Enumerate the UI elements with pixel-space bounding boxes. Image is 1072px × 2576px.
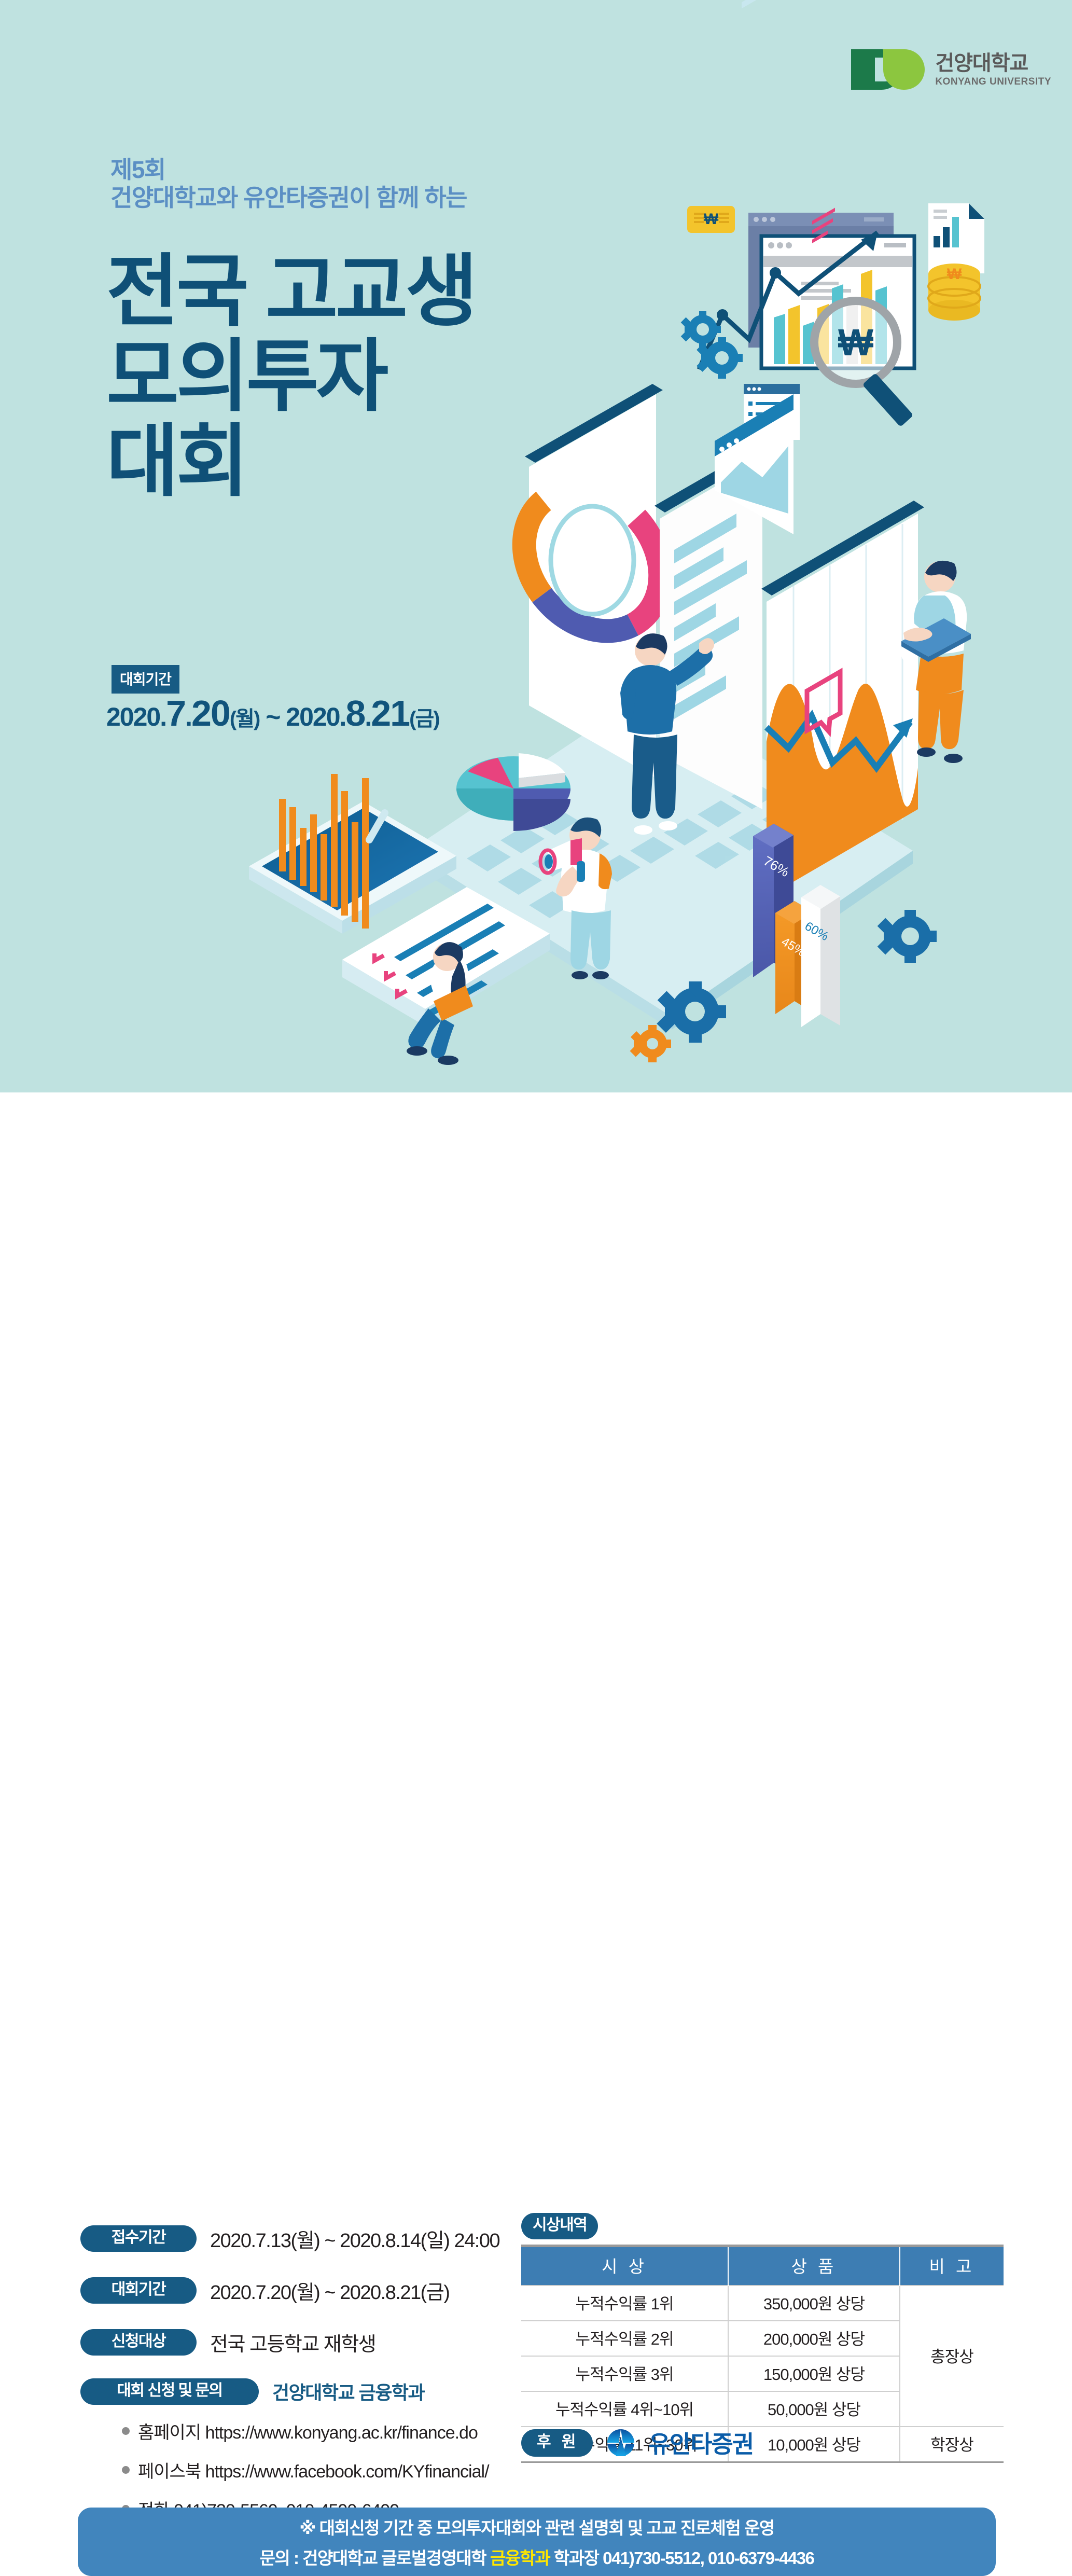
bar-label-60: 60% — [802, 919, 831, 944]
magnifier-won-icon: ₩ — [814, 301, 913, 427]
cell-amount: 50,000원 상당 — [728, 2391, 900, 2427]
eyebrow-text: 제5회 건양대학교와 유안타증권이 함께 하는 — [110, 156, 467, 212]
col-header-note: 비 고 — [900, 2246, 1004, 2286]
gear-icon — [681, 311, 721, 348]
label-contact: 대회 신청 및 문의 — [80, 2378, 259, 2405]
checklist-doc — [342, 887, 550, 1026]
date-year-2: 2020. — [286, 702, 345, 731]
footer-line-2: 문의 : 건양대학교 글로벌경영대학 금융학과 학과장 041)730-5512… — [260, 2544, 814, 2569]
cell-prize: 누적수익률 2위 — [521, 2321, 728, 2356]
yuanta-logo-icon — [606, 2428, 635, 2457]
gear-icon — [657, 981, 726, 1043]
value-eligibility: 전국 고등학교 재학생 — [210, 2328, 375, 2357]
list-item[interactable]: 홈페이지 https://www.konyang.ac.kr/finance.d… — [122, 2418, 489, 2444]
footer-line2-post: 학과장 041)730-5512, 010-6379-4436 — [550, 2549, 814, 2568]
cell-prize: 누적수익률 3위 — [521, 2356, 728, 2391]
person-megaphone — [540, 818, 612, 979]
cell-note-dean: 학장상 — [900, 2427, 1004, 2462]
svg-text:₩: ₩ — [947, 266, 962, 283]
footer-line2-highlight: 금융학과 — [490, 2549, 550, 2568]
konyang-mark-icon — [851, 49, 924, 90]
date-tilde: ~ — [259, 702, 286, 731]
info-panel: 접수기간 2020.7.13(월) ~ 2020.8.14(일) 24:00 대… — [0, 1092, 1072, 1516]
cell-amount: 10,000원 상당 — [728, 2427, 900, 2462]
info-row-application-period: 접수기간 2020.7.13(월) ~ 2020.8.14(일) 24:00 — [80, 2224, 499, 2253]
awards-badge: 시상내역 — [521, 2213, 598, 2239]
info-row-eligibility: 신청대상 전국 고등학교 재학생 — [80, 2328, 375, 2357]
event-date-range: 2020.7.20(월) ~ 2020.8.21(금) — [106, 693, 439, 734]
link-homepage[interactable]: 홈페이지 https://www.konyang.ac.kr/finance.d… — [138, 2418, 478, 2444]
konyang-name-kr: 건양대학교 — [935, 53, 1051, 74]
coin-stack-icon: ₩ — [928, 264, 980, 321]
svg-text:₩: ₩ — [838, 322, 873, 364]
hero-panel: ₩ — [0, 0, 1072, 1092]
info-row-contact: 대회 신청 및 문의 건양대학교 금융학과 — [80, 2378, 424, 2405]
date-weekday-1: (월) — [230, 708, 259, 730]
list-window-icon — [744, 384, 800, 440]
bullet-dot-icon — [122, 2427, 130, 2435]
footer-line2-pre: 문의 : 건양대학교 글로벌경영대학 — [260, 2549, 490, 2568]
date-month-2: 8 — [345, 693, 365, 733]
cell-amount: 350,000원 상당 — [728, 2286, 900, 2321]
won-ticket-icon: ₩ — [687, 206, 735, 233]
bar-label-76: 76% — [761, 853, 792, 880]
pie-3d-chart — [456, 753, 570, 831]
footer-banner: ※ 대회신청 기간 중 모의투자대회와 관련 설명회 및 고교 진로체험 운영 … — [78, 2508, 996, 2576]
date-month-1: 7 — [166, 693, 185, 733]
bar-3d-chart: 76% 45% 60% — [753, 824, 840, 1027]
label-eligibility: 신청대상 — [80, 2329, 197, 2356]
col-header-prize: 시 상 — [521, 2246, 728, 2286]
footer-line-1: ※ 대회신청 기간 중 모의투자대회와 관련 설명회 및 고교 진로체험 운영 — [299, 2514, 774, 2539]
konyang-logo: 건양대학교 KONYANG UNIVERSITY — [851, 49, 1051, 90]
col-header-amount: 상 품 — [728, 2246, 900, 2286]
cell-prize: 누적수익률 1위 — [521, 2286, 728, 2321]
konyang-name-en: KONYANG UNIVERSITY — [935, 77, 1051, 87]
sponsor-block: 후 원 유안타증권 — [521, 2426, 753, 2460]
link-facebook[interactable]: 페이스북 https://www.facebook.com/KYfinancia… — [138, 2457, 489, 2483]
gear-icon — [878, 910, 937, 963]
person-reading — [407, 942, 473, 1065]
sponsor-name: 유안타증권 — [649, 2426, 754, 2460]
report-doc-icon — [928, 203, 984, 273]
gear-icon — [697, 337, 743, 379]
sponsor-label: 후 원 — [521, 2429, 593, 2457]
table-row: 누적수익률 1위 350,000원 상당 총장상 — [521, 2286, 1004, 2321]
person-laptop — [901, 561, 971, 763]
label-contest-period: 대회기간 — [80, 2277, 197, 2304]
person-presenter — [620, 633, 714, 835]
svg-text:₩: ₩ — [704, 211, 719, 228]
value-contest-period: 2020.7.20(월) ~ 2020.8.21(금) — [210, 2276, 449, 2305]
tablet-chart — [249, 774, 456, 934]
date-dot-2: . — [365, 702, 371, 731]
date-weekday-2: (금) — [409, 708, 439, 730]
gear-icon — [630, 1025, 671, 1062]
table-header-row: 시 상 상 품 비 고 — [521, 2246, 1004, 2286]
date-day-2: 21 — [371, 693, 409, 733]
poster-root: ₩ — [0, 0, 1072, 1516]
mini-chart-window — [715, 0, 793, 534]
cell-prize: 누적수익률 4위~10위 — [521, 2391, 728, 2427]
date-badge: 대회기간 — [112, 665, 179, 694]
value-contact: 건양대학교 금융학과 — [272, 2378, 424, 2405]
date-year-1: 2020. — [106, 702, 166, 731]
cell-amount: 150,000원 상당 — [728, 2356, 900, 2391]
list-item[interactable]: 페이스북 https://www.facebook.com/KYfinancia… — [122, 2457, 489, 2483]
value-application-period: 2020.7.13(월) ~ 2020.8.14(일) 24:00 — [210, 2224, 499, 2253]
bullet-dot-icon — [122, 2466, 130, 2474]
date-day-1: 20 — [191, 693, 230, 733]
cell-amount: 200,000원 상당 — [728, 2321, 900, 2356]
speech-bubble-icon — [807, 207, 840, 731]
cell-note-presidential: 총장상 — [900, 2286, 1004, 2427]
label-application-period: 접수기간 — [80, 2225, 197, 2252]
bar-label-45: 45% — [779, 935, 808, 959]
date-dot-1: . — [185, 702, 191, 731]
info-row-contest-period: 대회기간 2020.7.20(월) ~ 2020.8.21(금) — [80, 2276, 449, 2305]
page-title: 전국 고교생 모의투자 대회 — [106, 249, 475, 504]
